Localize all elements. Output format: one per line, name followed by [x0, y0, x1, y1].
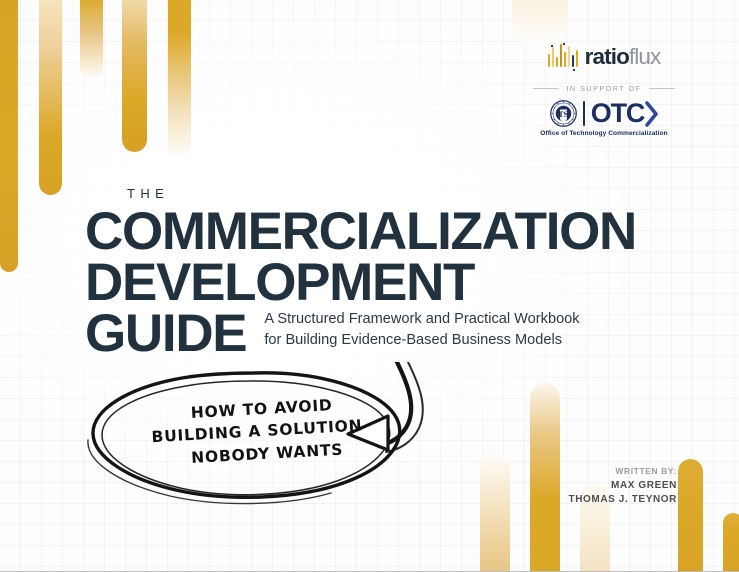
title-line-2: DEVELOPMENT — [85, 258, 636, 309]
handdrawn-callout: HOW TO AVOID BUILDING A SOLUTION NOBODY … — [78, 362, 448, 517]
bar-chart-mark-icon — [548, 43, 578, 71]
in-support-of-row: IN SUPPORT OF — [519, 84, 689, 93]
subtitle-line-2: for Building Evidence-Based Business Mod… — [264, 330, 579, 351]
title-guide-row: GUIDE A Structured Framework and Practic… — [85, 309, 636, 360]
chevron-right-icon — [645, 101, 658, 127]
logo-divider — [583, 101, 585, 126]
subtitle: A Structured Framework and Practical Wor… — [264, 309, 579, 359]
document-cover: ratioflux IN SUPPORT OF TS — [0, 0, 739, 572]
ratioflux-logo: ratioflux — [519, 40, 689, 74]
callout-text: HOW TO AVOID BUILDING A SOLUTION NOBODY … — [136, 391, 389, 472]
in-support-of-label: IN SUPPORT OF — [566, 84, 641, 93]
bar-bottom-1 — [480, 453, 510, 571]
subtitle-line-1: A Structured Framework and Practical Wor… — [264, 309, 579, 330]
bar-top-left-2 — [39, 0, 62, 195]
written-by-label: WRITTEN BY: — [569, 466, 678, 476]
bar-top-left-5 — [168, 0, 191, 158]
otc-full-name: Office of Technology Commercialization — [519, 130, 689, 137]
bar-bottom-4 — [678, 459, 703, 571]
otc-logo: TS OTC — [519, 100, 689, 127]
ratioflux-wordmark: ratioflux — [585, 46, 661, 69]
otc-mark: OTC — [591, 100, 658, 127]
author-name-2: THOMAS J. TEYNOR — [569, 493, 678, 507]
bar-top-left-1 — [0, 0, 18, 272]
university-seal-icon: TS — [550, 100, 577, 127]
publisher-logo-block: ratioflux IN SUPPORT OF TS — [519, 40, 689, 137]
author-block: WRITTEN BY: MAX GREEN THOMAS J. TEYNOR — [569, 466, 678, 507]
title-block: THE COMMERCIALIZATION DEVELOPMENT GUIDE … — [85, 186, 636, 360]
logo-word-ratio: ratio — [585, 44, 629, 69]
otc-abbrev: OTC — [591, 100, 644, 127]
divider-right — [649, 88, 675, 89]
logo-word-flux: flux — [629, 44, 660, 69]
author-name-1: MAX GREEN — [569, 479, 678, 493]
bar-bottom-2 — [530, 383, 560, 571]
title-line-3: GUIDE — [85, 309, 246, 360]
bar-top-left-3 — [80, 0, 103, 80]
bar-top-left-4 — [122, 0, 147, 152]
svg-text:TS: TS — [558, 110, 568, 119]
divider-left — [533, 88, 559, 89]
bar-bottom-5 — [723, 513, 739, 571]
title-kicker: THE — [127, 186, 636, 201]
title-line-1: COMMERCIALIZATION — [85, 207, 636, 258]
